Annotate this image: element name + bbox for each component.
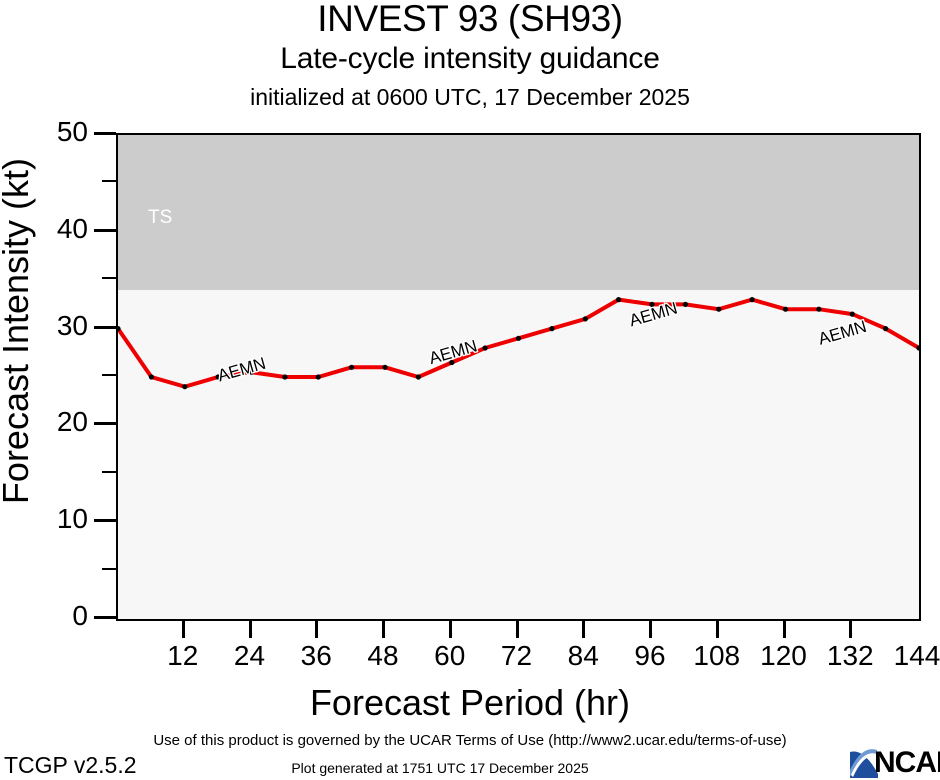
data-point-marker	[750, 297, 755, 302]
y-tick-label: 40	[18, 213, 88, 245]
data-point-marker	[850, 312, 855, 317]
y-tick-major	[94, 326, 116, 329]
y-tick-label: 0	[18, 600, 88, 632]
y-tick-minor	[102, 471, 116, 473]
series-inline-label: AEMN	[215, 354, 267, 386]
x-tick-major	[315, 618, 318, 638]
data-point-marker	[182, 384, 187, 389]
y-tick-major	[94, 422, 116, 425]
page-title: INVEST 93 (SH93)	[0, 0, 940, 40]
y-tick-major	[94, 616, 116, 619]
x-tick-major	[783, 618, 786, 638]
ncar-logo-text: NCAR	[874, 746, 940, 780]
series-inline-label: AEMN	[816, 317, 868, 349]
data-point-marker	[416, 374, 421, 379]
data-point-marker	[382, 365, 387, 370]
data-point-marker	[483, 345, 488, 350]
data-point-marker	[883, 326, 888, 331]
x-tick-major	[449, 618, 452, 638]
x-tick-major	[182, 618, 185, 638]
terms-of-use-text: Use of this product is governed by the U…	[0, 732, 940, 749]
y-tick-minor	[102, 374, 116, 376]
y-tick-major	[94, 519, 116, 522]
page-subtitle: Late-cycle intensity guidance	[0, 42, 940, 76]
data-point-marker	[616, 297, 621, 302]
chart-page: INVEST 93 (SH93) Late-cycle intensity gu…	[0, 0, 940, 780]
y-tick-major	[94, 132, 116, 135]
x-tick-major	[849, 618, 852, 638]
data-point-marker	[149, 374, 154, 379]
y-tick-label: 10	[18, 503, 88, 535]
x-tick-major	[516, 618, 519, 638]
x-tick-label: 144	[877, 640, 940, 672]
plot-area: TS AEMNAEMNAEMNAEMN	[116, 133, 921, 621]
x-tick-major	[649, 618, 652, 638]
initialization-time: initialized at 0600 UTC, 17 December 202…	[0, 84, 940, 111]
y-tick-minor	[102, 180, 116, 182]
y-tick-major	[94, 229, 116, 232]
y-tick-label: 30	[18, 310, 88, 342]
x-tick-major	[382, 618, 385, 638]
y-tick-label: 50	[18, 116, 88, 148]
data-point-marker	[583, 316, 588, 321]
data-point-marker	[716, 307, 721, 312]
generated-timestamp: Plot generated at 1751 UTC 17 December 2…	[0, 760, 880, 776]
y-tick-minor	[102, 568, 116, 570]
data-point-marker	[683, 302, 688, 307]
data-point-marker	[816, 307, 821, 312]
x-tick-major	[582, 618, 585, 638]
data-point-marker	[316, 374, 321, 379]
data-point-marker	[783, 307, 788, 312]
x-tick-major	[716, 618, 719, 638]
x-axis-label: Forecast Period (hr)	[0, 682, 940, 724]
y-tick-label: 20	[18, 406, 88, 438]
data-point-marker	[549, 326, 554, 331]
data-point-marker	[282, 374, 287, 379]
y-tick-minor	[102, 277, 116, 279]
data-point-marker	[349, 365, 354, 370]
data-point-marker	[516, 336, 521, 341]
x-tick-major	[249, 618, 252, 638]
forecast-line-chart: AEMNAEMNAEMNAEMN	[118, 135, 919, 619]
